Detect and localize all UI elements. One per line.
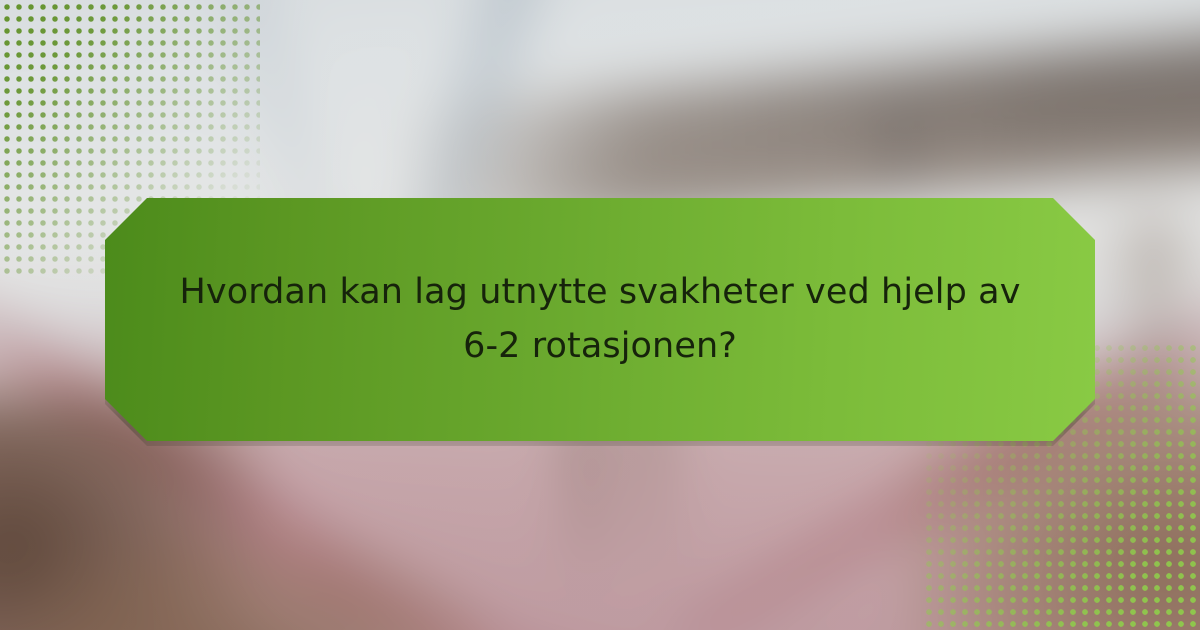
headline-card: Hvordan kan lag utnytte svakheter ved hj… [105, 198, 1095, 441]
social-card-canvas: Hvordan kan lag utnytte svakheter ved hj… [0, 0, 1200, 630]
headline-title: Hvordan kan lag utnytte svakheter ved hj… [105, 266, 1095, 372]
